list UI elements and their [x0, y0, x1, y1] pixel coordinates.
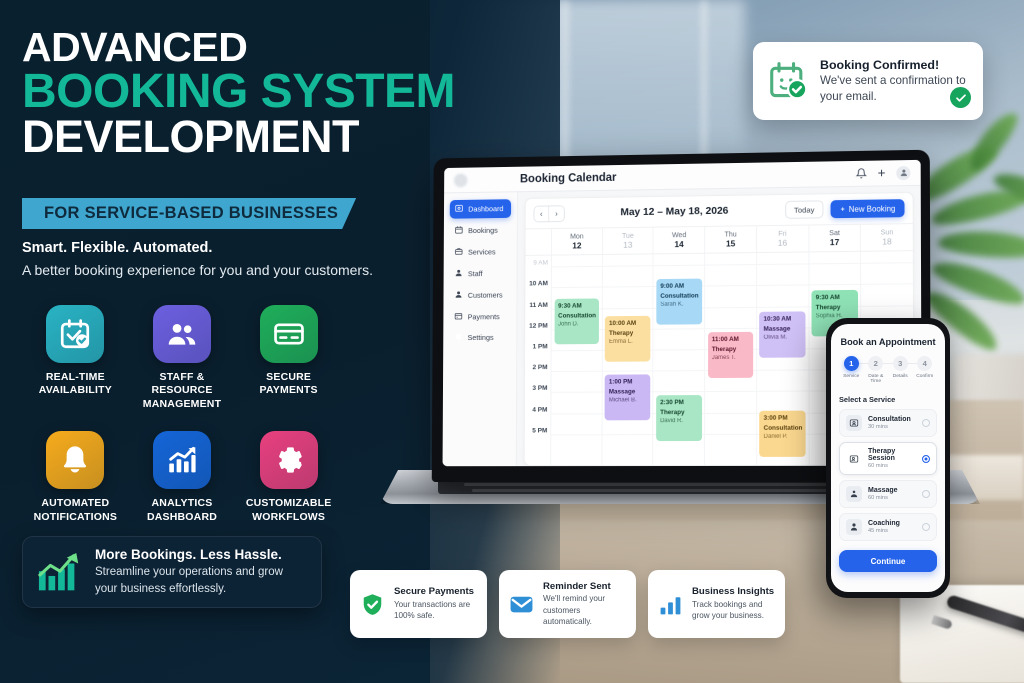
service-option[interactable]: Consultation 30 mins [839, 409, 937, 437]
time-gutter-header [525, 229, 552, 255]
feature-label: CUSTOMIZABLEWORKFLOWS [246, 497, 332, 524]
feature-label: REAL-TIMEAVAILABILITY [39, 371, 112, 398]
feature-grid: REAL-TIMEAVAILABILITY STAFF & RESOURCEMA… [22, 305, 342, 524]
step-label: Service [843, 374, 859, 379]
stepper-step[interactable]: 2 Date & Time [864, 356, 889, 384]
sidebar-item-payments[interactable]: Payments [449, 307, 510, 327]
sidebar-item-services[interactable]: Services [450, 242, 511, 262]
hour-label: 5 PM [532, 427, 547, 434]
step-label: Confirm [916, 374, 933, 379]
grid-line [757, 306, 808, 307]
feature-label: SECUREPAYMENTS [260, 371, 318, 398]
feature-label: AUTOMATEDNOTIFICATIONS [34, 497, 117, 524]
info-card-subtitle: Your transactions are 100% safe. [394, 599, 477, 622]
hour-label: 12 PM [529, 322, 548, 329]
day-name: Thu [705, 230, 756, 239]
event-time: 9:30 AM [558, 302, 595, 312]
day-number: 17 [809, 237, 860, 248]
day-header: Sat 17 [809, 225, 861, 252]
service-list: Consultation 30 mins Therapy Session 60 … [839, 409, 937, 541]
grid-line [861, 305, 913, 306]
avatar[interactable] [896, 166, 910, 180]
bell-icon [46, 431, 104, 489]
info-card-subtitle: Track bookings and grow your business. [692, 599, 775, 622]
event-time: 9:30 AM [816, 293, 854, 303]
chart-growth-icon [153, 431, 211, 489]
grid-line [552, 287, 602, 289]
step-number: 4 [917, 356, 932, 371]
service-radio[interactable] [922, 490, 930, 498]
event-time: 9:00 AM [660, 282, 697, 292]
step-label: Date & Time [864, 374, 889, 384]
sidebar-item-dashboard[interactable]: Dashboard [450, 199, 511, 219]
phone-mockup: Book an Appointment 1 Service 2 Date & T… [826, 318, 950, 598]
event-service: Therapy [816, 303, 854, 313]
check-circle-icon [950, 87, 971, 108]
booking-confirmed-toast: Booking Confirmed! We've sent a confirma… [753, 42, 983, 120]
service-duration: 30 mins [868, 424, 916, 430]
day-header: Sun 18 [861, 224, 913, 251]
grid-line [757, 391, 808, 392]
service-option[interactable]: Therapy Session 60 mins [839, 442, 937, 475]
service-duration: 60 mins [868, 463, 916, 469]
people-icon [153, 305, 211, 363]
bottom-card-row: Secure Payments Your transactions are 10… [350, 570, 785, 638]
grid-line [861, 284, 913, 286]
sidebar-item-settings[interactable]: Settings [449, 328, 510, 348]
day-header: Tue 13 [603, 228, 654, 254]
promo-banner: ADVANCED BOOKING SYSTEM DEVELOPMENT FOR … [0, 0, 1024, 683]
new-booking-button[interactable]: New Booking [831, 199, 905, 218]
hour-label: 3 PM [532, 385, 547, 392]
service-duration: 45 mins [868, 528, 916, 534]
feature-item: REAL-TIMEAVAILABILITY [22, 305, 129, 411]
event-time: 10:00 AM [609, 319, 646, 329]
grid-line [809, 263, 860, 265]
service-option[interactable]: Coaching 45 mins [839, 513, 937, 541]
toast-message: We've sent a confirmation to your email. [820, 73, 969, 104]
info-card-title: Secure Payments [394, 586, 477, 597]
day-number: 16 [757, 238, 808, 249]
grid-line [757, 370, 808, 371]
sidebar-item-staff[interactable]: Staff [449, 264, 510, 284]
event-service: Consultation [558, 311, 595, 321]
new-booking-label: New Booking [849, 204, 896, 214]
day-column[interactable]: 9:00 AM Consultation Sarah K.2:30 PM The… [654, 254, 706, 465]
bar-chart-up-icon [37, 552, 83, 592]
envelope-icon [509, 592, 534, 617]
bell-icon[interactable] [856, 168, 867, 179]
calendar-event[interactable]: 9:30 AM Consultation John D. [554, 299, 599, 345]
grid-line [551, 413, 601, 414]
sidebar-item-label: Staff [468, 269, 483, 278]
event-service: Therapy [712, 344, 750, 354]
grid-line [705, 285, 756, 287]
grid-line [705, 412, 756, 413]
grid-line [603, 286, 653, 288]
event-time: 3:00 PM [764, 414, 802, 424]
info-card: Business Insights Track bookings and gro… [648, 570, 785, 638]
event-client: David R. [660, 417, 698, 426]
event-client: Olivia M. [764, 334, 802, 343]
info-card: Secure Payments Your transactions are 10… [350, 570, 487, 638]
feature-item: ANALYTICSDASHBOARD [129, 431, 236, 524]
event-time: 10:30 AM [764, 315, 802, 325]
service-name: Massage [868, 487, 916, 494]
today-button[interactable]: Today [785, 201, 824, 219]
day-number: 14 [654, 239, 704, 250]
grid-line [757, 264, 808, 266]
audience-badge-label: FOR SERVICE-BASED BUSINESSES [44, 204, 338, 223]
bar-chart-icon [658, 592, 683, 617]
event-client: James T. [712, 354, 750, 363]
event-service: Therapy [660, 408, 698, 418]
feature-item: AUTOMATEDNOTIFICATIONS [22, 431, 129, 524]
grid-line [602, 434, 652, 435]
service-name: Coaching [868, 520, 916, 527]
phone-title: Book an Appointment [839, 337, 937, 347]
grid-line [603, 307, 653, 308]
phone-screen: Book an Appointment 1 Service 2 Date & T… [831, 324, 945, 592]
day-number: 15 [705, 238, 756, 249]
credit-card-icon [260, 305, 318, 363]
app-logo-icon [454, 173, 468, 187]
audience-badge: FOR SERVICE-BASED BUSINESSES [22, 198, 356, 229]
day-name: Fri [757, 229, 808, 238]
dashboard-icon [455, 204, 464, 215]
calendar-event[interactable]: 3:00 PM Consultation Daniel P. [760, 411, 806, 457]
grid-line [552, 266, 602, 268]
stepper-step[interactable]: 4 Confirm [913, 356, 938, 384]
promo-card: More Bookings. Less Hassle. Streamline y… [22, 536, 322, 608]
calendar-event[interactable]: 10:00 AM Therapy Emma L. [605, 316, 650, 362]
calendar-confirmed-icon [769, 61, 809, 101]
calendar-event[interactable]: 11:00 AM Therapy James T. [708, 332, 754, 378]
card-icon [454, 311, 463, 322]
event-service: Therapy [609, 328, 646, 338]
day-name: Sat [809, 228, 860, 237]
consultation-icon [846, 415, 862, 431]
grid-line [654, 265, 704, 267]
info-card-title: Reminder Sent [543, 581, 626, 592]
day-name: Tue [603, 231, 653, 240]
promo-subtitle: Streamline your operations and grow your… [95, 564, 307, 597]
day-column[interactable]: 9:30 AM Consultation John D. [551, 255, 603, 465]
grid-line [861, 262, 913, 264]
service-radio[interactable] [922, 455, 930, 463]
coaching-icon [846, 519, 862, 535]
grid-line [603, 265, 653, 267]
grid-line [654, 328, 704, 329]
grid-line [551, 392, 601, 393]
step-number: 2 [868, 356, 883, 371]
sidebar-item-label: Bookings [468, 226, 498, 235]
hour-label: 11 AM [529, 302, 547, 309]
day-column[interactable]: 10:30 AM Massage Olivia M.3:00 PM Consul… [757, 253, 809, 465]
plus-icon[interactable] [876, 167, 887, 178]
service-duration: 60 mins [868, 495, 916, 501]
hour-label: 1 PM [533, 343, 548, 350]
feature-item: CUSTOMIZABLEWORKFLOWS [235, 431, 342, 524]
calendar-event[interactable]: 9:00 AM Consultation Sarah K. [656, 279, 701, 325]
app-header-icons [856, 166, 911, 181]
grid-line [552, 350, 602, 351]
day-header: Wed 14 [654, 227, 705, 253]
promo-title: More Bookings. Less Hassle. [95, 547, 307, 562]
event-client: Emma L. [609, 338, 646, 347]
prev-week-button[interactable]: ‹ [534, 206, 549, 221]
day-number: 18 [861, 236, 913, 247]
service-radio[interactable] [922, 523, 930, 531]
sidebar-item-label: Dashboard [468, 204, 503, 213]
service-name: Therapy Session [868, 448, 916, 462]
sidebar-item-label: Services [468, 247, 496, 256]
day-number: 12 [552, 240, 602, 250]
stepper-step[interactable]: 1 Service [839, 356, 864, 384]
grid-line [705, 434, 756, 435]
grid-line [705, 264, 756, 266]
event-service: Massage [609, 387, 646, 397]
sidebar-item-bookings[interactable]: Bookings [450, 221, 511, 241]
app-title: Booking Calendar [520, 171, 617, 184]
feature-label: ANALYTICSDASHBOARD [147, 497, 217, 524]
calendar-nav: ‹ › [533, 205, 564, 222]
day-name: Mon [552, 232, 602, 241]
time-gutter: 9 AM10 AM11 AM12 PM1 PM2 PM3 PM4 PM5 PM [525, 256, 552, 465]
feature-item: STAFF & RESOURCEMANAGEMENT [129, 305, 236, 411]
briefcase-icon [454, 247, 463, 258]
calendar-event[interactable]: 2:30 PM Therapy David R. [656, 395, 702, 441]
service-option[interactable]: Massage 60 mins [839, 480, 937, 508]
step-label: Details [893, 374, 908, 379]
event-client: Sarah K. [660, 301, 697, 310]
headline-line-1: ADVANCED [22, 28, 522, 67]
grid-line [705, 306, 756, 307]
service-radio[interactable] [922, 419, 930, 427]
grid-line [602, 371, 652, 372]
sidebar: Dashboard Bookings Services Staff Custom… [443, 192, 518, 466]
event-time: 2:30 PM [660, 398, 698, 408]
sub-tagline: A better booking experience for you and … [22, 262, 373, 278]
grid-line [551, 434, 601, 435]
grid-line [705, 328, 756, 329]
grid-line [552, 371, 602, 372]
grid-line [757, 285, 808, 287]
booking-stepper: 1 Service 2 Date & Time 3 Details 4 Conf… [839, 356, 937, 384]
event-client: John D. [558, 320, 595, 329]
info-card: Reminder Sent We'll remind your customer… [499, 570, 636, 638]
event-service: Consultation [660, 291, 697, 301]
hour-label: 10 AM [529, 281, 548, 288]
step-number: 3 [893, 356, 908, 371]
hour-label: 2 PM [532, 364, 547, 371]
grid-line [654, 370, 705, 371]
step-number: 1 [844, 356, 859, 371]
event-service: Massage [764, 324, 802, 334]
stepper-step[interactable]: 3 Details [888, 356, 913, 384]
toast-title: Booking Confirmed! [820, 58, 969, 72]
event-client: Daniel P. [764, 433, 802, 442]
day-number: 13 [603, 240, 653, 251]
grid-line [654, 349, 705, 350]
gear-icon [454, 333, 463, 344]
gear-icon [260, 431, 318, 489]
day-column[interactable]: 11:00 AM Therapy James T. [705, 253, 757, 465]
grid-line [654, 391, 705, 392]
massage-icon [846, 486, 862, 502]
headline-line-2: BOOKING SYSTEM [22, 69, 522, 115]
continue-button[interactable]: Continue [839, 550, 937, 572]
info-card-subtitle: We'll remind your customers automaticall… [543, 593, 626, 627]
hour-label: 4 PM [532, 406, 547, 413]
day-column[interactable]: 10:00 AM Therapy Emma L.1:00 PM Massage … [602, 255, 654, 466]
therapy-icon [846, 451, 862, 467]
calendar-icon [455, 225, 464, 236]
event-service: Consultation [764, 423, 802, 433]
grid-line [705, 391, 756, 392]
sidebar-item-label: Settings [468, 333, 494, 342]
info-card-title: Business Insights [692, 586, 775, 597]
calendar-event[interactable]: 1:00 PM Massage Michael B. [605, 375, 650, 421]
calendar-check-icon [46, 305, 104, 363]
select-service-heading: Select a Service [839, 395, 937, 404]
hour-label: 9 AM [533, 260, 548, 267]
page-title: ADVANCED BOOKING SYSTEM DEVELOPMENT [22, 28, 522, 158]
grid-line [809, 284, 860, 286]
sidebar-item-label: Payments [468, 312, 500, 321]
next-week-button[interactable]: › [549, 206, 564, 221]
day-header: Fri 16 [757, 226, 809, 253]
service-name: Consultation [868, 416, 916, 423]
feature-item: SECUREPAYMENTS [235, 305, 342, 411]
event-client: Michael B. [609, 396, 646, 405]
plus-icon [840, 206, 846, 212]
user-icon [454, 268, 463, 279]
event-time: 11:00 AM [712, 335, 750, 345]
shield-check-icon [360, 592, 385, 617]
day-header: Thu 15 [705, 226, 757, 253]
feature-label: STAFF & RESOURCEMANAGEMENT [129, 371, 236, 411]
sidebar-item-customers[interactable]: Customers [449, 285, 510, 305]
sidebar-item-label: Customers [468, 290, 503, 299]
tagline: Smart. Flexible. Automated. [22, 240, 212, 256]
calendar-event[interactable]: 10:30 AM Massage Olivia M. [760, 312, 806, 358]
users-icon [454, 290, 463, 301]
calendar-date-range: May 12 – May 18, 2026 [572, 205, 778, 219]
day-name: Wed [654, 231, 704, 240]
day-name: Sun [861, 228, 913, 237]
day-header: Mon 12 [552, 229, 603, 255]
event-time: 1:00 PM [609, 378, 646, 388]
